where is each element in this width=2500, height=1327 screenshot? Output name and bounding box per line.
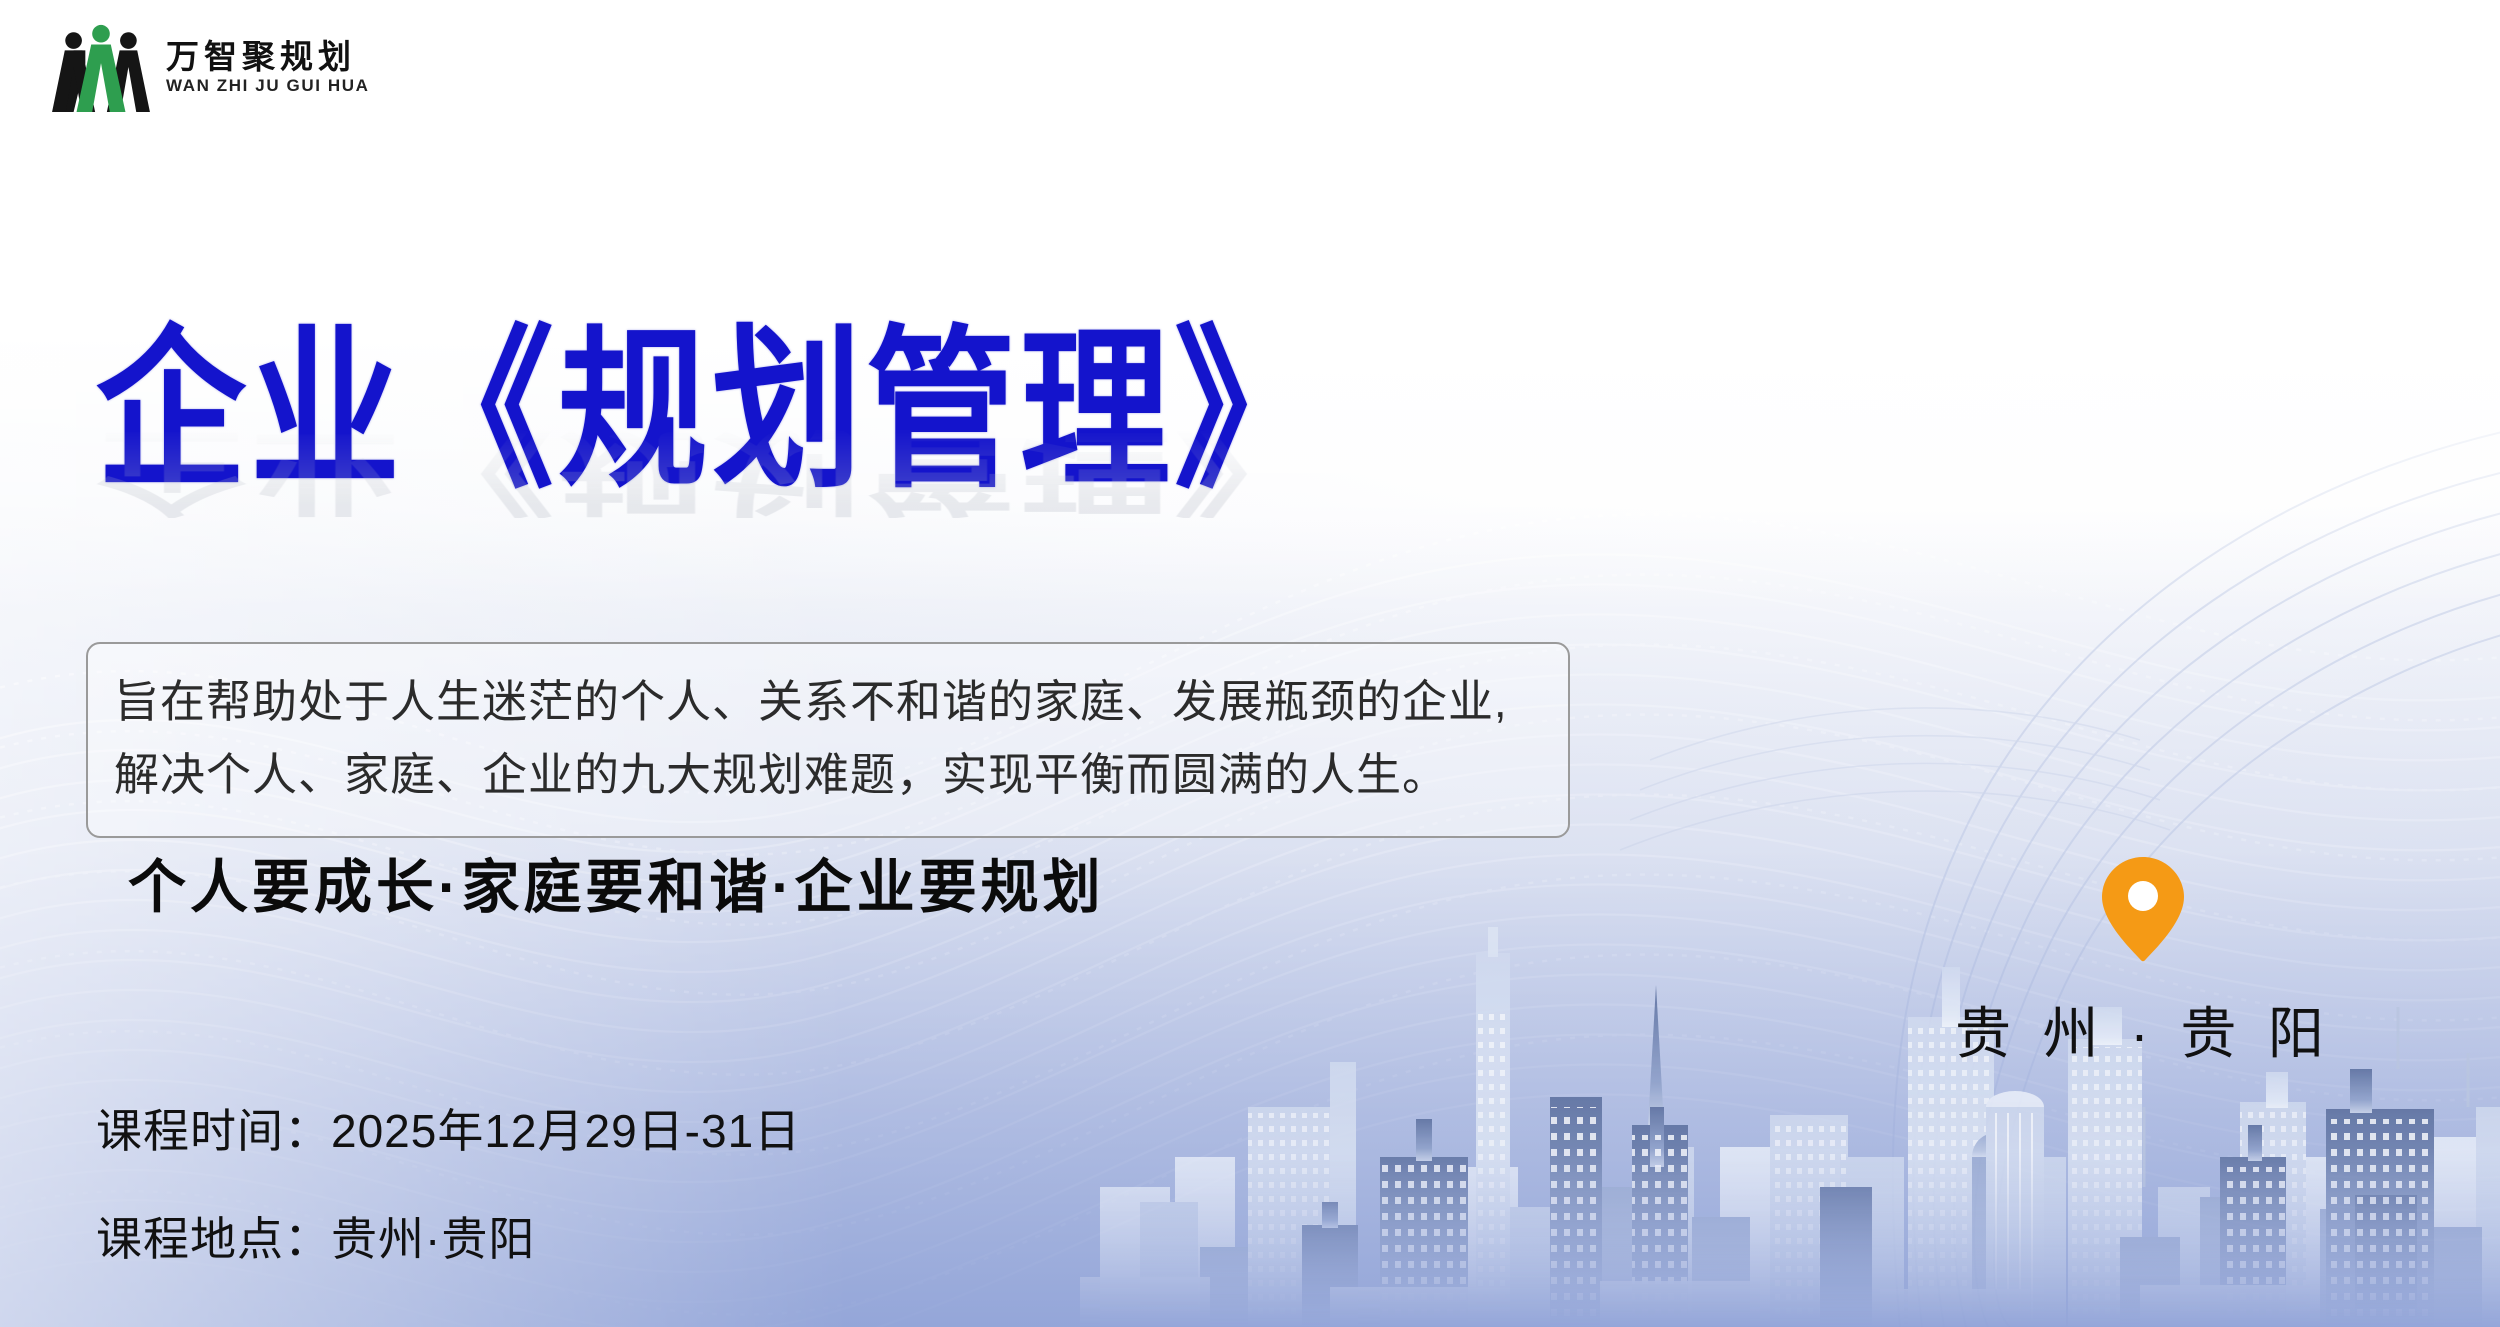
page-title-reflection: 企业《规划管理》: [96, 423, 1328, 518]
three-people-logo-icon: [52, 22, 150, 114]
description-line-1: 旨在帮助处于人生迷茫的个人、关系不和谐的家庭、发展瓶颈的企业,: [114, 666, 1542, 739]
brand-wordmark: 万智聚规划 WAN ZHI JU GUI HUA: [166, 42, 370, 94]
tagline: 个人要成长·家庭要和谐·企业要规划: [128, 840, 1105, 924]
brand-name-pinyin: WAN ZHI JU GUI HUA: [166, 77, 370, 94]
course-info: 课程时间：2025年12月29日-31日 课程地点：贵州·贵阳: [96, 1095, 801, 1269]
brand-name-cn: 万智聚规划: [166, 42, 370, 75]
brand-logo[interactable]: 万智聚规划 WAN ZHI JU GUI HUA: [52, 22, 370, 114]
description-box: 旨在帮助处于人生迷茫的个人、关系不和谐的家庭、发展瓶颈的企业, 解决个人、家庭、…: [86, 642, 1570, 838]
location-label: 贵 州 · 贵 阳: [1955, 989, 2332, 1070]
map-pin-icon: [2099, 855, 2187, 963]
course-date: 课程时间：2025年12月29日-31日: [96, 1095, 801, 1161]
headline-block: 企业《规划管理》 企业《规划管理》: [96, 322, 1328, 475]
description-line-2: 解决个人、家庭、企业的九大规划难题，实现平衡而圆满的人生。: [114, 739, 1542, 812]
poster-canvas: 万智聚规划 WAN ZHI JU GUI HUA 企业《规划管理》 企业《规划管…: [0, 0, 2500, 1327]
location-block: 贵 州 · 贵 阳: [1955, 855, 2332, 1070]
course-place: 课程地点：贵州·贵阳: [96, 1203, 801, 1269]
